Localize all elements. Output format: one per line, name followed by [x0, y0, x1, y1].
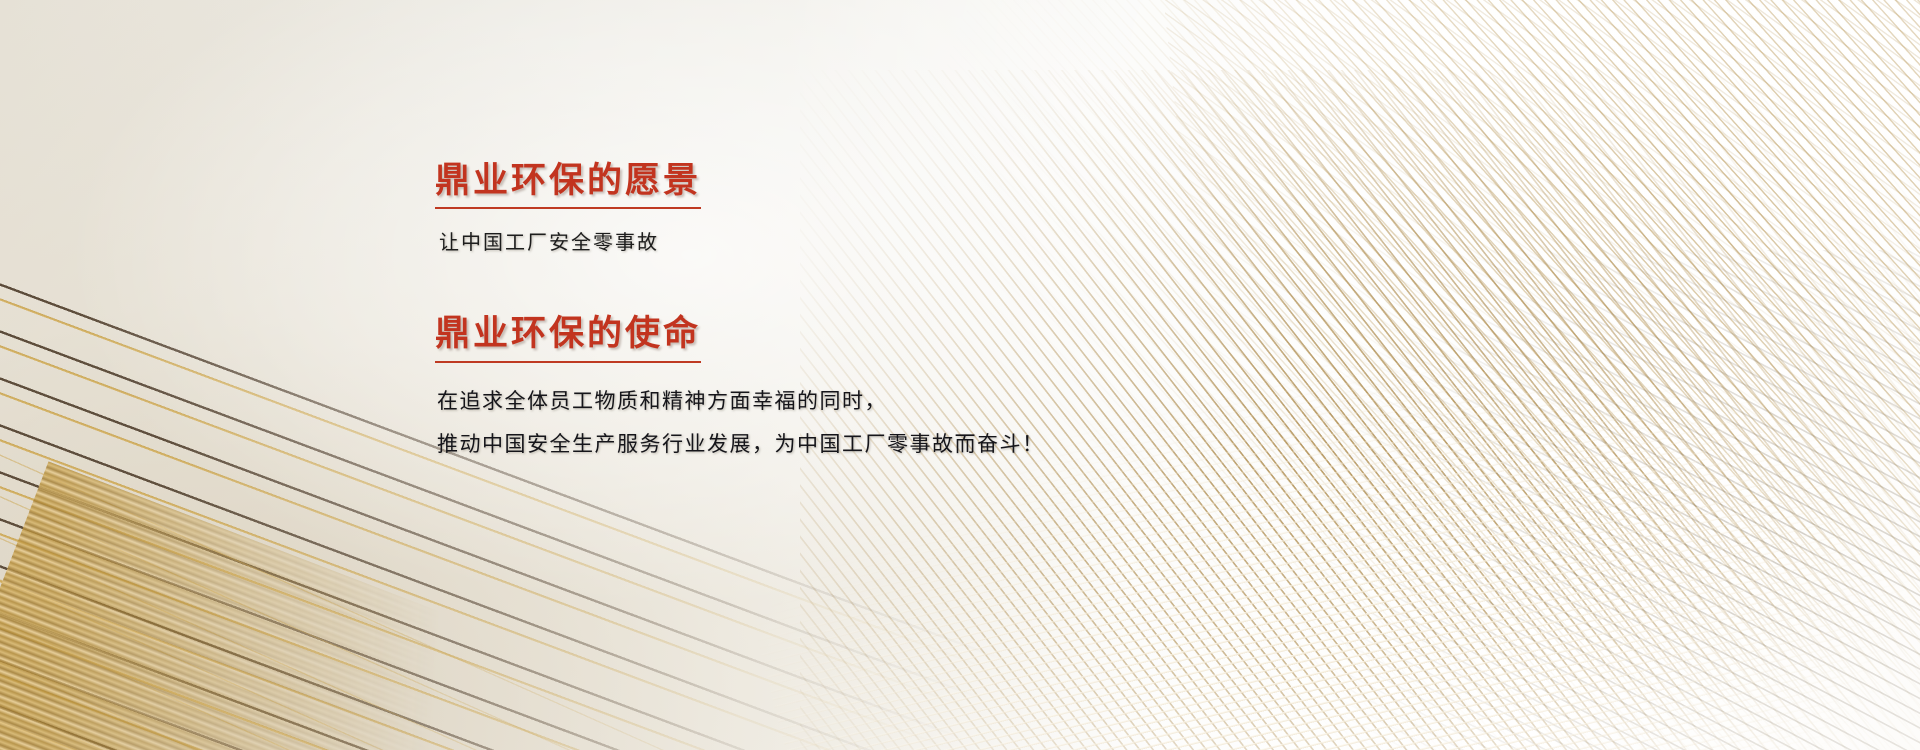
mission-body: 在追求全体员工物质和精神方面幸福的同时， 推动中国安全生产服务行业发展，为中国工… [437, 391, 1435, 455]
vision-mission-banner: 鼎业环保的愿景 让中国工厂安全零事故 鼎业环保的使命 在追求全体员工物质和精神方… [0, 0, 1920, 750]
mission-block: 鼎业环保的使命 在追求全体员工物质和精神方面幸福的同时， 推动中国安全生产服务行… [435, 313, 1435, 454]
vision-subtitle: 让中国工厂安全零事故 [439, 226, 1435, 255]
mission-line-2: 推动中国安全生产服务行业发展，为中国工厂零事故而奋斗！ [437, 434, 1435, 455]
mission-line-1: 在追求全体员工物质和精神方面幸福的同时， [437, 391, 1435, 412]
mission-heading: 鼎业环保的使命 [435, 313, 701, 362]
vision-block: 鼎业环保的愿景 让中国工厂安全零事故 [435, 160, 1435, 255]
banner-content: 鼎业环保的愿景 让中国工厂安全零事故 鼎业环保的使命 在追求全体员工物质和精神方… [435, 160, 1435, 455]
gold-corner-wedge-decor [0, 461, 627, 750]
vision-heading: 鼎业环保的愿景 [435, 160, 701, 209]
